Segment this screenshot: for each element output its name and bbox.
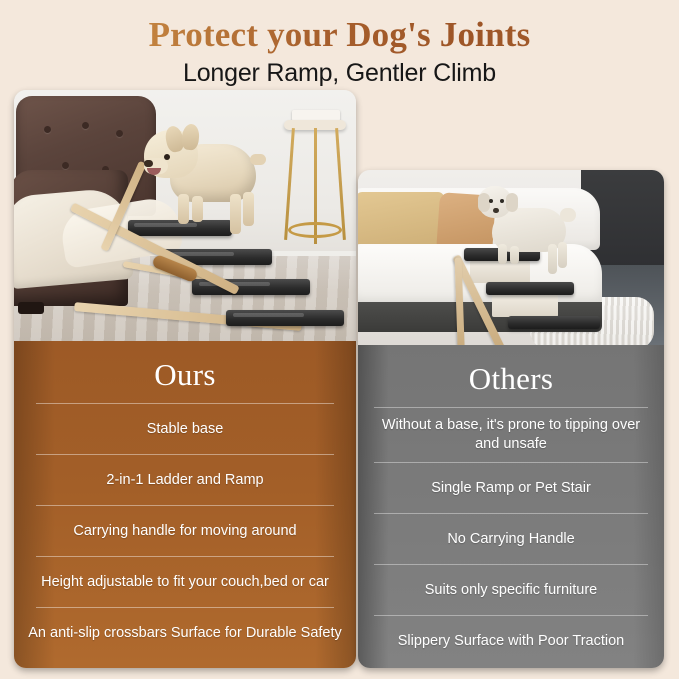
ours-panel: Ours Stable base 2-in-1 Ladder and Ramp …	[14, 341, 356, 668]
list-item: Suits only specific furniture	[358, 565, 664, 615]
ramp-step	[226, 310, 344, 326]
ours-card: Ours Stable base 2-in-1 Ladder and Ramp …	[14, 90, 356, 668]
ours-product-photo	[14, 90, 356, 341]
white-poodle	[474, 186, 584, 278]
ours-heading: Ours	[14, 341, 356, 403]
french-bulldog	[144, 118, 264, 244]
list-item: Stable base	[14, 404, 356, 454]
list-item: Single Ramp or Pet Stair	[358, 463, 664, 513]
others-product-photo	[358, 170, 664, 345]
list-item: Height adjustable to fit your couch,bed …	[14, 557, 356, 607]
dog-head	[478, 186, 512, 218]
dog-tail	[250, 154, 266, 165]
list-item: No Carrying Handle	[358, 514, 664, 564]
stair-step	[508, 316, 600, 329]
page-title: Protect your Dog's Joints	[0, 14, 679, 55]
stair-step	[486, 282, 574, 295]
others-card: Others Without a base, it's prone to tip…	[358, 170, 664, 668]
dog-tail	[560, 208, 576, 222]
others-panel: Others Without a base, it's prone to tip…	[358, 345, 664, 668]
recliner-foot	[18, 302, 44, 314]
page-header: Protect your Dog's Joints Longer Ramp, G…	[0, 0, 679, 88]
list-item: Carrying handle for moving around	[14, 506, 356, 556]
tan-pillow	[358, 192, 444, 250]
list-item: An anti-slip crossbars Surface for Durab…	[14, 608, 356, 658]
list-item: 2-in-1 Ladder and Ramp	[14, 455, 356, 505]
ours-feature-list: Stable base 2-in-1 Ladder and Ramp Carry…	[14, 404, 356, 658]
page-subtitle: Longer Ramp, Gentler Climb	[0, 59, 679, 88]
competitor-pet-stairs	[450, 248, 630, 345]
list-item: Without a base, it's prone to tipping ov…	[358, 408, 664, 462]
others-heading: Others	[358, 345, 664, 407]
dog-head	[144, 130, 198, 178]
others-feature-list: Without a base, it's prone to tipping ov…	[358, 408, 664, 666]
comparison-container: Ours Stable base 2-in-1 Ladder and Ramp …	[0, 0, 679, 679]
list-item: Slippery Surface with Poor Traction	[358, 616, 664, 666]
